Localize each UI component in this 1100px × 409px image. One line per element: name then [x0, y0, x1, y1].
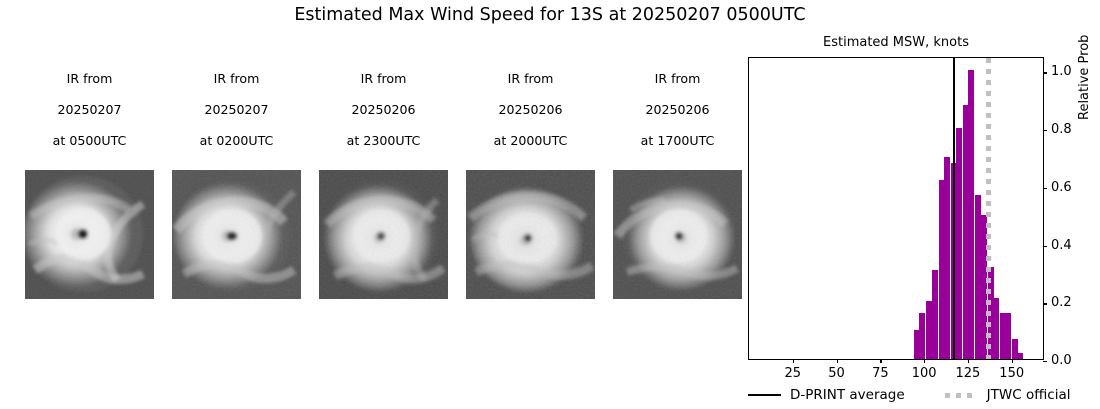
figure-container: Estimated Max Wind Speed for 13S at 2025… [0, 0, 1100, 409]
ir-satellite-image-svg [172, 170, 301, 299]
y-axis-tick-label: 1.0 [1051, 65, 1072, 78]
dprint-average-line [953, 58, 955, 359]
satellite-panel-caption: IR from 20250207 at 0500UTC [16, 55, 163, 164]
ir-satellite-image-svg [319, 170, 448, 299]
caption-line-date: 20250206 [457, 102, 604, 118]
satellite-panel-caption: IR from 20250206 at 1700UTC [604, 55, 751, 164]
histogram-bar [919, 313, 925, 359]
y-axis-tick [1043, 361, 1047, 362]
caption-line-time: at 0500UTC [16, 133, 163, 149]
ir-satellite-image [25, 170, 154, 299]
y-axis-tick-label: 0.4 [1051, 239, 1072, 252]
histogram-plot-area [749, 58, 1043, 359]
satellite-panel: IR from 20250207 at 0500UTC [16, 55, 163, 299]
caption-line-time: at 2300UTC [310, 133, 457, 149]
x-axis-tick-label: 150 [982, 366, 1042, 381]
satellite-panel-row: IR from 20250207 at 0500UTC [0, 55, 740, 285]
satellite-panel-caption: IR from 20250206 at 2300UTC [310, 55, 457, 164]
histogram-bar [944, 157, 950, 359]
caption-line-date: 20250206 [604, 102, 751, 118]
y-axis-label: Relative Prob [1077, 35, 1092, 120]
histogram-bar [993, 298, 999, 359]
ir-satellite-image-svg [25, 170, 154, 299]
x-axis-tick [968, 359, 969, 363]
legend-item-jtwc-official: JTWC official [945, 387, 1071, 403]
y-axis-tick [1043, 130, 1047, 131]
y-axis-tick-label: 0.2 [1051, 296, 1072, 309]
legend-label: JTWC official [987, 387, 1071, 403]
chart-legend: D-PRINT average JTWC official [748, 385, 1078, 405]
ir-satellite-image [466, 170, 595, 299]
x-axis-tick [880, 359, 881, 363]
histogram-bar [968, 70, 974, 359]
ir-satellite-image-svg [466, 170, 595, 299]
ir-satellite-image [172, 170, 301, 299]
y-axis-tick-label: 0.0 [1051, 354, 1072, 367]
legend-item-dprint-average: D-PRINT average [748, 387, 905, 403]
satellite-panel: IR from 20250206 at 2000UTC [457, 55, 604, 299]
y-axis-tick-label: 0.6 [1051, 181, 1072, 194]
x-axis-tick [1012, 359, 1013, 363]
y-axis-tick [1043, 72, 1047, 73]
legend-label: D-PRINT average [790, 387, 905, 403]
x-axis-tick [924, 359, 925, 363]
caption-line-source: IR from [310, 71, 457, 87]
chart-title: Estimated MSW, knots [748, 35, 1044, 50]
caption-line-date: 20250207 [16, 102, 163, 118]
y-axis-tick [1043, 303, 1047, 304]
histogram-bar [1005, 313, 1011, 359]
caption-line-time: at 1700UTC [604, 133, 751, 149]
x-axis-tick [837, 359, 838, 363]
caption-line-source: IR from [457, 71, 604, 87]
satellite-panel-caption: IR from 20250207 at 0200UTC [163, 55, 310, 164]
histogram-bar [932, 270, 938, 359]
caption-line-date: 20250206 [310, 102, 457, 118]
solid-line-icon [748, 394, 781, 396]
satellite-panel-caption: IR from 20250206 at 2000UTC [457, 55, 604, 164]
satellite-panel: IR from 20250206 at 2300UTC [310, 55, 457, 299]
satellite-panel: IR from 20250206 at 1700UTC [604, 55, 751, 299]
page-title: Estimated Max Wind Speed for 13S at 2025… [0, 5, 1100, 25]
dotted-line-icon [945, 393, 978, 398]
caption-line-source: IR from [163, 71, 310, 87]
caption-line-time: at 2000UTC [457, 133, 604, 149]
satellite-panel: IR from 20250207 at 0200UTC [163, 55, 310, 299]
ir-satellite-image-svg [613, 170, 742, 299]
ir-satellite-image [319, 170, 448, 299]
y-axis-tick [1043, 246, 1047, 247]
x-axis-tick [793, 359, 794, 363]
caption-line-time: at 0200UTC [163, 133, 310, 149]
histogram-bar [956, 128, 962, 359]
y-axis-tick-label: 0.8 [1051, 123, 1072, 136]
caption-line-source: IR from [16, 71, 163, 87]
histogram-chart: 2550751001251500.00.20.40.60.81.0 [748, 57, 1044, 360]
caption-line-date: 20250207 [163, 102, 310, 118]
caption-line-source: IR from [604, 71, 751, 87]
ir-satellite-image [613, 170, 742, 299]
jtwc-official-line [986, 58, 991, 359]
y-axis-tick [1043, 188, 1047, 189]
histogram-bar [1018, 353, 1024, 359]
